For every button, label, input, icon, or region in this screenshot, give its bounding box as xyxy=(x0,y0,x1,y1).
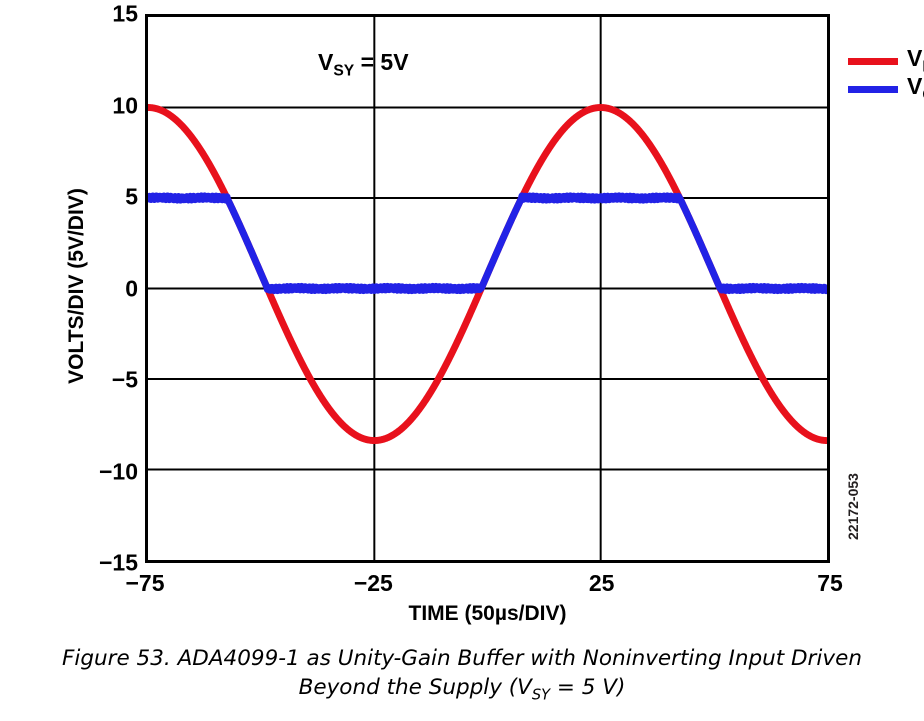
caption-subscript: SY xyxy=(532,686,550,703)
x-tick-label: −25 xyxy=(354,572,393,595)
x-axis-title: TIME (50µs/DIV) xyxy=(145,602,830,626)
annotation-subscript: SY xyxy=(333,63,354,80)
annotation-rest: = 5V xyxy=(354,49,408,75)
caption-line-1: Figure 53. ADA4099-1 as Unity-Gain Buffe… xyxy=(0,645,924,674)
legend-label-vin: VIN xyxy=(907,47,924,75)
x-tick-label: 25 xyxy=(589,572,615,595)
x-tick-label: 75 xyxy=(817,572,843,595)
legend-label-vout: VOUT xyxy=(907,75,924,103)
y-tick-label: −5 xyxy=(86,369,138,392)
legend-entry-vout: VOUT xyxy=(848,75,924,103)
chart-legend: VIN VOUT xyxy=(848,47,924,103)
figure-53: VSY = 5V VIN VOUT 151050−5−10−15 −75−252… xyxy=(0,0,924,721)
y-axis-title: VOLTS/DIV (5V/DIV) xyxy=(65,76,89,496)
y-tick-label: 10 xyxy=(86,94,138,117)
y-tick-label: −10 xyxy=(86,460,138,483)
x-axis-tick-labels: −75−252575 xyxy=(145,572,830,602)
y-tick-label: 15 xyxy=(86,3,138,26)
caption-line-2: Beyond the Supply (VSY = 5 V) xyxy=(0,674,924,705)
legend-swatch-vout xyxy=(848,86,898,93)
figure-caption: Figure 53. ADA4099-1 as Unity-Gain Buffe… xyxy=(0,645,924,704)
series-vout xyxy=(148,196,827,291)
data-series-layer xyxy=(148,17,827,560)
legend-swatch-vin xyxy=(848,58,898,65)
legend-entry-vin: VIN xyxy=(848,47,924,75)
chart-plot-area: VSY = 5V VIN VOUT xyxy=(145,14,830,563)
y-tick-label: 0 xyxy=(86,277,138,300)
annotation-symbol: V xyxy=(318,49,333,75)
figure-id-watermark: 22172-053 xyxy=(845,430,861,540)
x-tick-label: −75 xyxy=(125,572,164,595)
y-tick-label: 5 xyxy=(86,186,138,209)
supply-annotation: VSY = 5V xyxy=(318,49,409,81)
